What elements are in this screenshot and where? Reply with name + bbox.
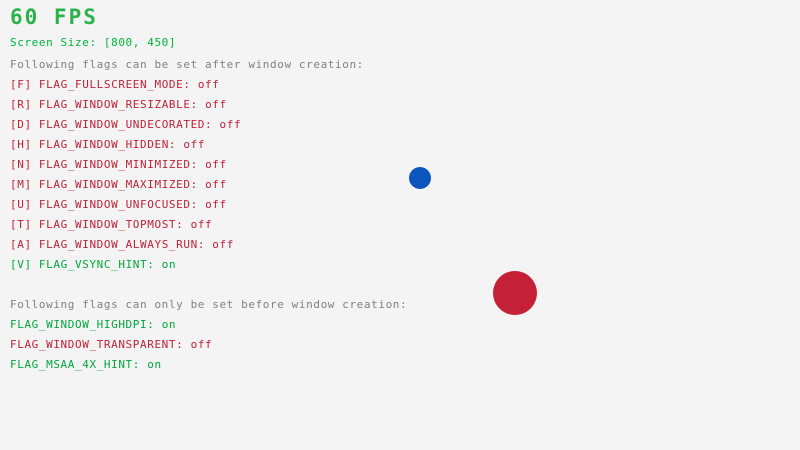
flag-shortcut-key: [A] xyxy=(10,238,32,251)
flag-name-label: FLAG_WINDOW_TRANSPARENT xyxy=(10,338,176,351)
flag-name-label: FLAG_WINDOW_HIGHDPI xyxy=(10,318,147,331)
flag-colon: : xyxy=(191,98,198,111)
flag-row-flag-window-minimized[interactable]: [N] FLAG_WINDOW_MINIMIZED: off xyxy=(10,158,227,172)
flag-row-flag-window-highdpi[interactable]: FLAG_WINDOW_HIGHDPI: on xyxy=(10,318,176,332)
flag-colon: : xyxy=(176,338,183,351)
flag-shortcut-key: [T] xyxy=(10,218,32,231)
flag-name-label: FLAG_WINDOW_MAXIMIZED xyxy=(39,178,191,191)
flag-colon: : xyxy=(176,218,183,231)
flag-row-flag-window-maximized[interactable]: [M] FLAG_WINDOW_MAXIMIZED: off xyxy=(10,178,227,192)
flag-row-flag-window-unfocused[interactable]: [U] FLAG_WINDOW_UNFOCUSED: off xyxy=(10,198,227,212)
flag-state-value: off xyxy=(212,238,234,251)
flag-row-flag-vsync-hint[interactable]: [V] FLAG_VSYNC_HINT: on xyxy=(10,258,176,272)
flag-name-label: FLAG_WINDOW_TOPMOST xyxy=(39,218,176,231)
flag-colon: : xyxy=(147,258,154,271)
screen-size-label: Screen Size: [800, 450] xyxy=(10,36,176,50)
flag-name-label: FLAG_WINDOW_ALWAYS_RUN xyxy=(39,238,198,251)
flag-colon: : xyxy=(169,138,176,151)
section-heading-before-creation: Following flags can only be set before w… xyxy=(10,298,407,312)
flag-shortcut-key: [U] xyxy=(10,198,32,211)
flag-name-label: FLAG_FULLSCREEN_MODE xyxy=(39,78,183,91)
flag-colon: : xyxy=(191,198,198,211)
flag-colon: : xyxy=(133,358,140,371)
flag-row-flag-window-hidden[interactable]: [H] FLAG_WINDOW_HIDDEN: off xyxy=(10,138,205,152)
flag-shortcut-key: [H] xyxy=(10,138,32,151)
flag-row-flag-msaa-4x-hint[interactable]: FLAG_MSAA_4X_HINT: on xyxy=(10,358,162,372)
flag-state-value: off xyxy=(205,178,227,191)
flag-colon: : xyxy=(191,158,198,171)
blue-ball-shape xyxy=(409,167,431,189)
flag-row-flag-window-always-run[interactable]: [A] FLAG_WINDOW_ALWAYS_RUN: off xyxy=(10,238,234,252)
flag-shortcut-key: [V] xyxy=(10,258,32,271)
flag-colon: : xyxy=(183,78,190,91)
flag-row-flag-window-topmost[interactable]: [T] FLAG_WINDOW_TOPMOST: off xyxy=(10,218,212,232)
flag-name-label: FLAG_WINDOW_HIDDEN xyxy=(39,138,169,151)
section-heading-after-creation: Following flags can be set after window … xyxy=(10,58,364,72)
flag-colon: : xyxy=(191,178,198,191)
flag-state-value: on xyxy=(162,318,176,331)
flag-state-value: off xyxy=(205,198,227,211)
flag-row-flag-window-undecorated[interactable]: [D] FLAG_WINDOW_UNDECORATED: off xyxy=(10,118,241,132)
flag-row-flag-window-transparent[interactable]: FLAG_WINDOW_TRANSPARENT: off xyxy=(10,338,212,352)
flag-row-flag-fullscreen-mode[interactable]: [F] FLAG_FULLSCREEN_MODE: off xyxy=(10,78,220,92)
flag-state-value: on xyxy=(147,358,161,371)
flag-name-label: FLAG_WINDOW_UNFOCUSED xyxy=(39,198,191,211)
flag-colon: : xyxy=(198,238,205,251)
red-ball-shape xyxy=(493,271,537,315)
raylib-window-canvas[interactable]: 60 FPS Screen Size: [800, 450] Following… xyxy=(0,0,800,450)
flag-row-flag-window-resizable[interactable]: [R] FLAG_WINDOW_RESIZABLE: off xyxy=(10,98,227,112)
flag-state-value: off xyxy=(205,158,227,171)
flag-shortcut-key: [F] xyxy=(10,78,32,91)
flag-shortcut-key: [M] xyxy=(10,178,32,191)
flag-state-value: off xyxy=(205,98,227,111)
flag-shortcut-key: [N] xyxy=(10,158,32,171)
flag-name-label: FLAG_MSAA_4X_HINT xyxy=(10,358,133,371)
flag-shortcut-key: [D] xyxy=(10,118,32,131)
flag-name-label: FLAG_WINDOW_UNDECORATED xyxy=(39,118,205,131)
flag-state-value: off xyxy=(183,138,205,151)
flag-shortcut-key: [R] xyxy=(10,98,32,111)
flag-state-value: off xyxy=(191,218,213,231)
flag-state-value: on xyxy=(162,258,176,271)
flag-name-label: FLAG_WINDOW_MINIMIZED xyxy=(39,158,191,171)
flag-state-value: off xyxy=(198,78,220,91)
flag-colon: : xyxy=(147,318,154,331)
flag-state-value: off xyxy=(191,338,213,351)
flag-colon: : xyxy=(205,118,212,131)
fps-counter: 60 FPS xyxy=(10,5,98,29)
flag-name-label: FLAG_WINDOW_RESIZABLE xyxy=(39,98,191,111)
flag-name-label: FLAG_VSYNC_HINT xyxy=(39,258,147,271)
flag-state-value: off xyxy=(220,118,242,131)
